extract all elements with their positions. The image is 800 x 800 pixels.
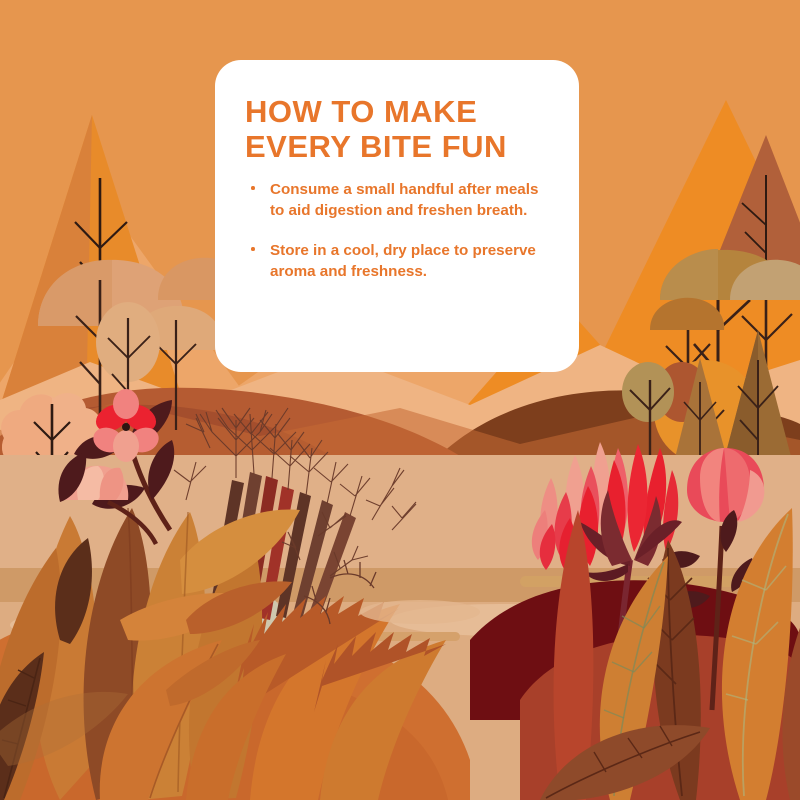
- list-item-text: Store in a cool, dry place to preserve a…: [270, 242, 536, 280]
- list-item: Consume a small handful after meals to a…: [245, 180, 549, 221]
- info-card: HOW TO MAKE EVERY BITE FUN Consume a sma…: [215, 60, 579, 372]
- bullet-dot-icon: [251, 186, 255, 190]
- foreground-leaves-right: [540, 508, 800, 800]
- bullet-dot-icon: [251, 247, 255, 251]
- list-item-text: Consume a small handful after meals to a…: [270, 181, 538, 219]
- tips-list: Consume a small handful after meals to a…: [245, 180, 549, 283]
- page-title: HOW TO MAKE EVERY BITE FUN: [245, 94, 549, 164]
- ground-stone: [360, 600, 480, 624]
- illustration-canvas: HOW TO MAKE EVERY BITE FUN Consume a sma…: [0, 0, 800, 800]
- list-item: Store in a cool, dry place to preserve a…: [245, 241, 549, 282]
